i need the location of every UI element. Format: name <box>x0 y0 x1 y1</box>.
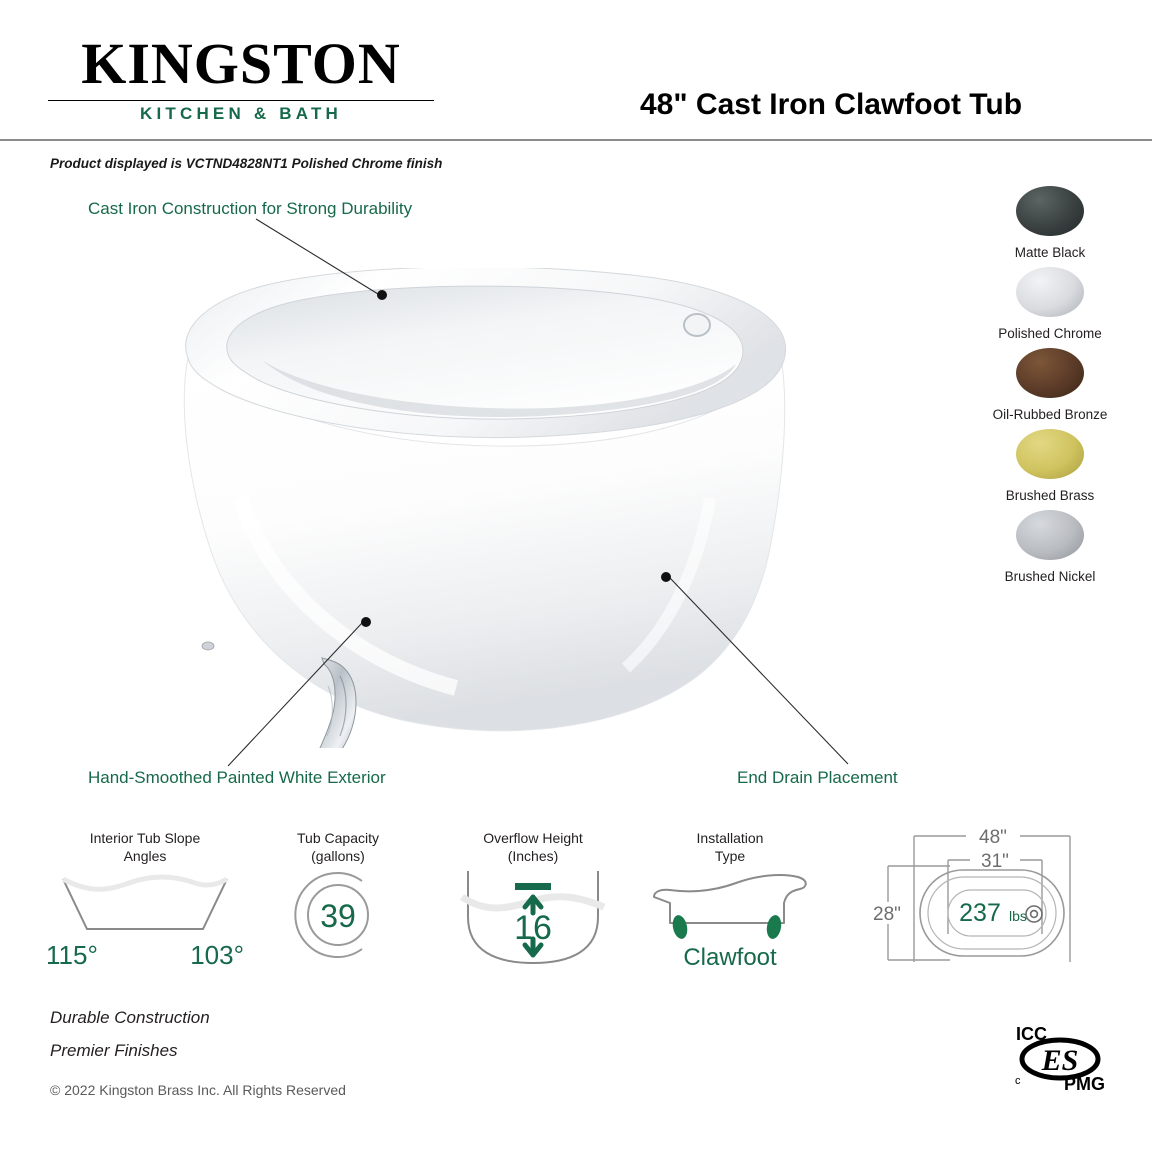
finish-option-matte-black[interactable]: Matte Black <box>950 186 1150 267</box>
dimension-weight-unit: lbs <box>1009 908 1027 924</box>
swatch-top-brushed-nickel <box>1016 510 1084 560</box>
spec-capacity-title: Tub Capacity (gallons) <box>258 830 418 865</box>
finish-label-oil-rubbed-bronze: Oil-Rubbed Bronze <box>950 407 1150 422</box>
swatch-polished-chrome[interactable] <box>1016 267 1084 323</box>
tub-mount-bolt <box>202 642 214 650</box>
capacity-gauge-icon: 39 <box>258 867 418 963</box>
finish-label-matte-black: Matte Black <box>950 245 1150 260</box>
dimension-inner-width-label: 31" <box>981 851 1009 872</box>
overflow-drain-hole <box>684 314 710 336</box>
swatch-top-matte-black <box>1016 186 1084 236</box>
finish-option-brushed-brass[interactable]: Brushed Brass <box>950 429 1150 510</box>
spec-capacity-title-line2: (gallons) <box>311 848 365 864</box>
swatch-top-polished-chrome <box>1016 267 1084 317</box>
icc-logo-es-text: ES <box>1041 1044 1079 1077</box>
finish-option-polished-chrome[interactable]: Polished Chrome <box>950 267 1150 348</box>
spec-installation-title: Installation Type <box>640 830 820 865</box>
callout-label-white-exterior: Hand-Smoothed Painted White Exterior <box>88 768 386 788</box>
spec-slope-angles: Interior Tub Slope Angles 115° 103° <box>40 830 250 970</box>
specification-row: Interior Tub Slope Angles 115° 103° Tub … <box>0 830 1152 980</box>
spec-overflow-title: Overflow Height (Inches) <box>440 830 626 865</box>
brand-wordmark: KINGSTON <box>48 34 434 93</box>
swatch-top-oil-rubbed-bronze <box>1016 348 1084 398</box>
spec-overflow-title-line2: (Inches) <box>508 848 559 864</box>
brand-tagline: KITCHEN & BATH <box>48 104 434 124</box>
footer-tagline-durable: Durable Construction <box>50 1008 210 1028</box>
spec-slope-title-line2: Angles <box>124 848 167 864</box>
finish-note: Product displayed is VCTND4828NT1 Polish… <box>50 156 442 171</box>
clawfoot-tub-icon <box>640 869 820 939</box>
spec-installation-title-line1: Installation <box>697 830 764 846</box>
spec-overflow-title-line1: Overflow Height <box>483 830 583 846</box>
footer-copyright: © 2022 Kingston Brass Inc. All Rights Re… <box>50 1082 346 1098</box>
dimension-weight-value: 237 <box>959 899 1001 927</box>
product-spec-sheet: KINGSTON KITCHEN & BATH 48" Cast Iron Cl… <box>0 0 1152 1152</box>
slope-angle-icon <box>55 871 235 937</box>
clawfoot-icon-foot-left <box>671 914 690 939</box>
callout-label-cast-iron: Cast Iron Construction for Strong Durabi… <box>88 199 412 219</box>
spec-overflow-height: Overflow Height (Inches) 16 <box>440 830 626 974</box>
swatch-oil-rubbed-bronze[interactable] <box>1016 348 1084 404</box>
callout-label-end-drain: End Drain Placement <box>737 768 898 788</box>
tub-product-image <box>170 268 870 748</box>
brand-divider-rule <box>48 100 434 101</box>
spec-slope-left-angle: 115° <box>46 940 98 971</box>
dimensions-diagram-icon: 48" 31" 28" 237 lbs <box>858 822 1084 974</box>
finish-label-brushed-nickel: Brushed Nickel <box>950 569 1150 584</box>
swatch-brushed-brass[interactable] <box>1016 429 1084 485</box>
finish-option-oil-rubbed-bronze[interactable]: Oil-Rubbed Bronze <box>950 348 1150 429</box>
page-title: 48" Cast Iron Clawfoot Tub <box>640 88 1022 122</box>
spec-capacity-value: 39 <box>320 898 356 934</box>
spec-overflow-value: 16 <box>514 909 552 947</box>
footer-tagline-premier: Premier Finishes <box>50 1041 178 1061</box>
finish-options-list: Matte Black Polished Chrome Oil-Rubbed B… <box>950 186 1150 591</box>
finish-label-polished-chrome: Polished Chrome <box>950 326 1150 341</box>
dimension-depth-label: 28" <box>873 904 901 925</box>
finish-option-brushed-nickel[interactable]: Brushed Nickel <box>950 510 1150 591</box>
spec-slope-title-line1: Interior Tub Slope <box>90 830 201 846</box>
icc-logo-c-prefix: c <box>1015 1075 1021 1087</box>
spec-capacity-title-line1: Tub Capacity <box>297 830 379 846</box>
finish-label-brushed-brass: Brushed Brass <box>950 488 1150 503</box>
spec-slope-title: Interior Tub Slope Angles <box>40 830 250 865</box>
spec-installation-title-line2: Type <box>715 848 745 864</box>
spec-installation-type: Installation Type Clawfoot <box>640 830 820 972</box>
swatch-matte-black[interactable] <box>1016 186 1084 242</box>
spec-slope-right-angle: 103° <box>190 940 244 971</box>
clawfoot-icon-foot-right <box>765 914 783 939</box>
swatch-top-brushed-brass <box>1016 429 1084 479</box>
drain-icon <box>1026 906 1042 922</box>
overflow-height-icon: 16 <box>440 867 626 969</box>
icc-es-pmg-certification-logo: ICC ES c PMG <box>1008 1022 1112 1096</box>
swatch-brushed-nickel[interactable] <box>1016 510 1084 566</box>
icc-logo-pmg-text: PMG <box>1064 1074 1105 1094</box>
spec-tub-capacity: Tub Capacity (gallons) 39 <box>258 830 418 968</box>
dimension-width-label: 48" <box>979 827 1007 848</box>
spec-installation-value: Clawfoot <box>640 944 820 972</box>
spec-dimensions: 48" 31" 28" 237 lbs <box>856 822 1086 979</box>
header-divider <box>0 139 1152 141</box>
